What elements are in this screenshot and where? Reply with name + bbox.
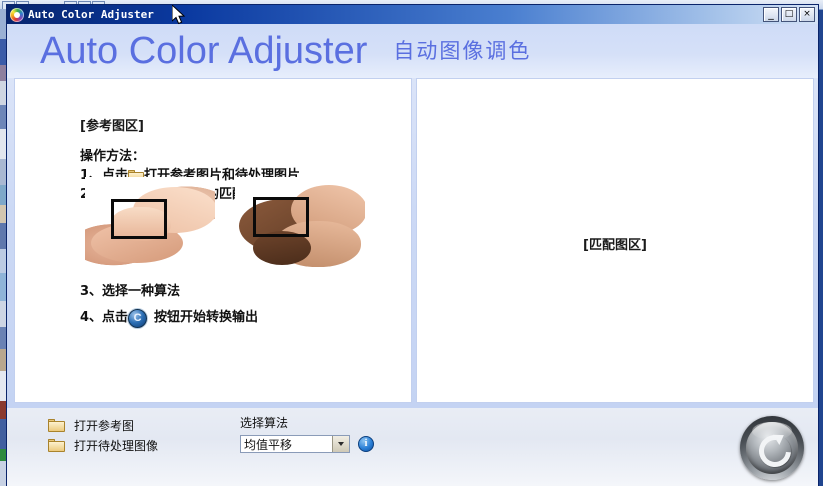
instructions-heading: 操作方法：	[80, 147, 410, 166]
reference-panel-placeholder: [参考图区]	[80, 115, 144, 134]
instructions-lower-block: 3、选择一种算法 4、点击 按钮开始转换输出	[80, 279, 410, 331]
algorithm-selected-value: 均值平移	[241, 436, 292, 453]
info-glyph: i	[365, 439, 368, 449]
auto-color-adjuster-window: Auto Color Adjuster _ □ × Auto Color Adj…	[6, 4, 819, 486]
minimize-icon: _	[764, 8, 778, 21]
title-bar[interactable]: Auto Color Adjuster _ □ ×	[7, 5, 818, 24]
open-target-image-button[interactable]: 打开待处理图像	[48, 437, 158, 454]
algorithm-row: 均值平移 i	[240, 435, 374, 453]
result-panel-placeholder: [匹配图区]	[417, 234, 813, 253]
open-reference-image-button[interactable]: 打开参考图	[48, 417, 134, 434]
handshake-light-skin-image[interactable]	[85, 177, 215, 271]
selection-rectangle[interactable]	[111, 199, 167, 239]
window-title: Auto Color Adjuster	[28, 8, 154, 21]
open-target-label: 打开待处理图像	[74, 437, 158, 454]
folder-icon	[48, 439, 65, 452]
result-image-panel[interactable]: [匹配图区]	[416, 78, 814, 403]
folder-icon	[48, 419, 65, 432]
maximize-icon: □	[782, 8, 796, 21]
instruction-step-4: 4、点击 按钮开始转换输出	[80, 305, 410, 331]
refresh-arrow-icon	[757, 433, 787, 463]
chevron-down-icon[interactable]	[332, 436, 349, 452]
close-icon: ×	[800, 8, 814, 21]
color-palette-icon	[10, 8, 24, 22]
reference-image-panel[interactable]: [参考图区] 操作方法： 1、点击 打开参考图片和待处理图片 2、分别选择两张图…	[14, 78, 412, 403]
convert-button-inner	[746, 422, 798, 474]
open-reference-label: 打开参考图	[74, 417, 134, 434]
algorithm-dropdown[interactable]: 均值平移	[240, 435, 350, 453]
handshake-dark-skin-image[interactable]	[235, 177, 365, 271]
window-controls: _ □ ×	[763, 7, 815, 22]
info-icon[interactable]: i	[358, 436, 374, 452]
close-button[interactable]: ×	[799, 7, 815, 22]
convert-button-icon	[128, 309, 147, 328]
step-3-text: 3、选择一种算法	[80, 279, 180, 305]
maximize-button[interactable]: □	[781, 7, 797, 22]
convert-button[interactable]	[740, 416, 804, 480]
brand-title: Auto Color Adjuster	[40, 32, 367, 70]
step-4-prefix: 4、点击	[80, 305, 128, 331]
header-banner: Auto Color Adjuster 自动图像调色	[7, 24, 818, 78]
algorithm-label: 选择算法	[240, 414, 374, 431]
bottom-toolbar: 打开参考图 打开待处理图像 选择算法 均值平移 i	[7, 408, 818, 486]
step-4-suffix: 按钮开始转换输出	[154, 305, 258, 331]
brand-subtitle: 自动图像调色	[393, 41, 531, 62]
instruction-step-3: 3、选择一种算法	[80, 279, 410, 305]
algorithm-selector-group: 选择算法 均值平移 i	[240, 414, 374, 453]
sample-images-row	[85, 177, 370, 271]
selection-rectangle[interactable]	[253, 197, 309, 237]
panels-area: [参考图区] 操作方法： 1、点击 打开参考图片和待处理图片 2、分别选择两张图…	[7, 78, 818, 408]
minimize-button[interactable]: _	[763, 7, 779, 22]
